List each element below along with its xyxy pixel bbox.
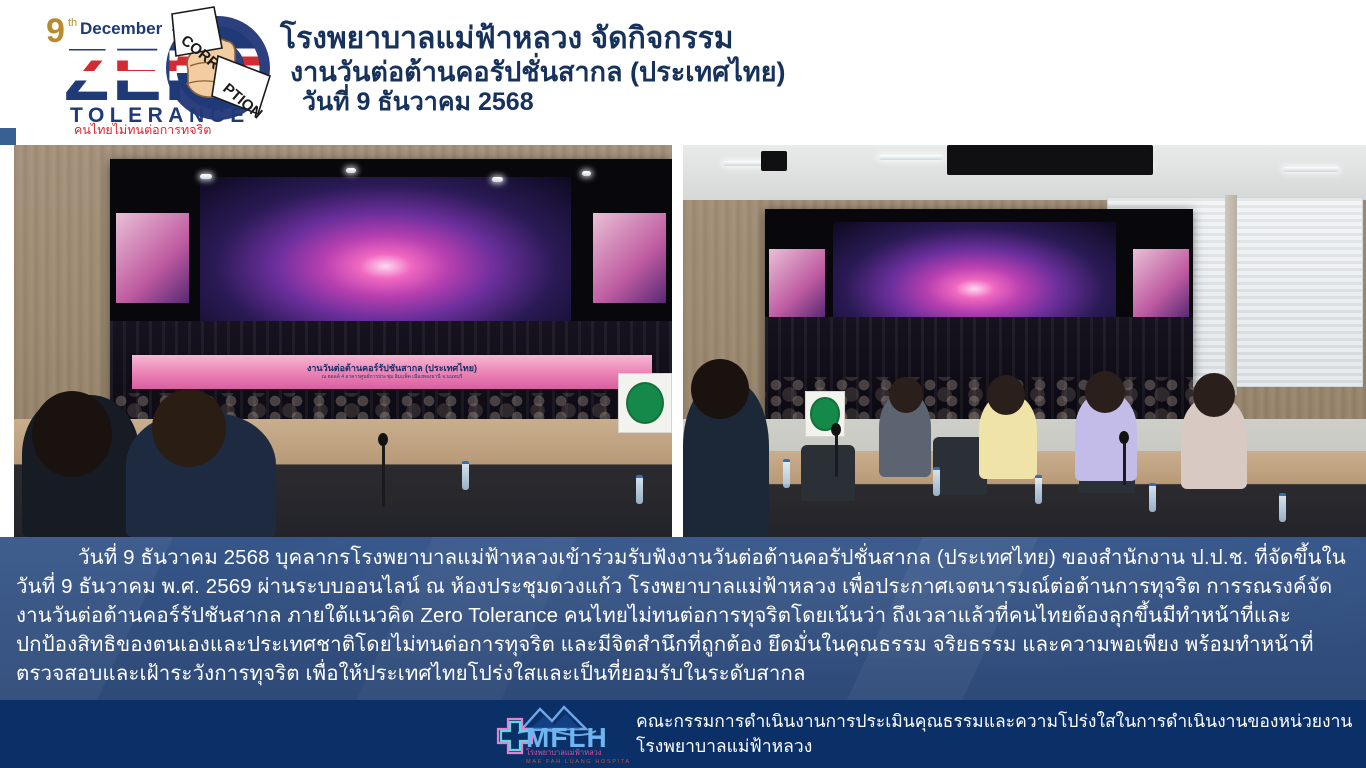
poster-root: 9 th December (0, 0, 1366, 768)
svg-text:MAE FAH LUANG HOSPITAL: MAE FAH LUANG HOSPITAL (526, 759, 630, 765)
health-seal-sign (618, 373, 672, 433)
body-text-block: วันที่ 9 ธันวาคม 2568 บุคลากรโรงพยาบาลแม… (0, 537, 1366, 700)
photo-left-meeting-room: งานวันต่อต้านคอร์รัปชันสากล (ประเทศไทย) … (14, 145, 672, 537)
led-stage-graphic (200, 177, 571, 321)
stage-spot-1 (200, 174, 212, 179)
stage-spot-2 (346, 168, 356, 173)
water-bottle-r1 (783, 459, 790, 488)
stage-spot-4 (582, 171, 591, 176)
footer-text-block: คณะกรรมการดำเนินงานการประเมินคุณธรรมและค… (636, 709, 1352, 759)
right-scene (683, 145, 1366, 537)
led-banner-line1: งานวันต่อต้านคอร์รัปชันสากล (ประเทศไทย) (307, 364, 477, 373)
green-seal-icon (626, 382, 664, 424)
header-title-line2: งานวันต่อต้านคอรัปชั่นสากล (ประเทศไทย) (280, 59, 880, 86)
led-banner: งานวันต่อต้านคอร์รัปชันสากล (ประเทศไทย) … (132, 355, 652, 389)
water-bottle-r4 (1149, 483, 1156, 512)
window-blinds-2 (1235, 197, 1363, 387)
microphone-stem-1 (382, 445, 385, 507)
header-title-line3: วันที่ 9 ธันวาคม 2568 (280, 90, 880, 115)
ceiling-light-4 (1283, 167, 1339, 172)
attendee-foreground-head (691, 359, 749, 419)
svg-text:คนไทยไม่ทนต่อการทุจริต: คนไทยไม่ทนต่อการทุจริต (74, 123, 211, 134)
attendee-r4-head (1193, 373, 1235, 417)
water-bottle-1 (462, 461, 469, 490)
footer-bar: MFLH โรงพยาบาลแม่ฟ้าหลวง MAE FAH LUANG H… (0, 700, 1366, 768)
led-wing-left (116, 213, 189, 303)
header-title-block: โรงพยาบาลแม่ฟ้าหลวง จัดกิจกรรม งานวันต่อ… (280, 24, 880, 115)
attendee-r2-head (987, 375, 1025, 415)
window-pillar (1225, 195, 1237, 395)
ceiling-light-2 (879, 155, 943, 160)
photo-band: งานวันต่อต้านคอร์รัปชันสากล (ประเทศไทย) … (0, 145, 1366, 537)
microphone-stem-r1 (835, 433, 838, 477)
attendee-r1-head (889, 377, 923, 413)
zero-tolerance-logo: 9 th December (22, 4, 284, 134)
svg-text:โรงพยาบาลแม่ฟ้าหลวง: โรงพยาบาลแม่ฟ้าหลวง (526, 748, 602, 757)
water-bottle-r3 (1035, 475, 1042, 504)
microphone-stem-r2 (1123, 441, 1126, 485)
attendee-2-head (152, 389, 226, 467)
header: 9 th December (0, 0, 1366, 145)
speaker-box (761, 151, 787, 171)
water-bottle-2 (636, 475, 643, 504)
water-bottle-r5 (1279, 493, 1286, 522)
led-wing-right (593, 213, 666, 303)
footer-line2: โรงพยาบาลแม่ฟ้าหลวง (636, 734, 1352, 759)
svg-text:th: th (68, 17, 77, 29)
chair-1 (801, 445, 855, 501)
footer-line1: คณะกรรมการดำเนินงานการประเมินคุณธรรมและค… (636, 709, 1352, 734)
header-left-accent-strip (0, 128, 16, 145)
wall-monitor (947, 145, 1153, 175)
microphone-head-r2 (1119, 431, 1129, 444)
left-scene: งานวันต่อต้านคอร์รัปชันสากล (ประเทศไทย) … (14, 145, 672, 537)
mflh-hospital-logo: MFLH โรงพยาบาลแม่ฟ้าหลวง MAE FAH LUANG H… (482, 703, 630, 765)
microphone-head-r1 (831, 423, 841, 436)
header-title-line1: โรงพยาบาลแม่ฟ้าหลวง จัดกิจกรรม (280, 24, 880, 54)
microphone-head-1 (378, 433, 388, 446)
water-bottle-r2 (933, 467, 940, 496)
body-paragraph: วันที่ 9 ธันวาคม 2568 บุคลากรโรงพยาบาลแม… (0, 537, 1366, 688)
attendee-r3-head (1085, 371, 1125, 413)
led-banner-line2: ณ ฮอลล์ 4 อาคารศูนย์การประชุม อิมแพ็ค เม… (322, 375, 463, 380)
stage-spot-3 (492, 177, 503, 182)
attendee-1-head (32, 391, 112, 477)
photo-right-meeting-room (683, 145, 1366, 537)
led-wing-left-right (769, 249, 825, 316)
led-stage-graphic-right (833, 222, 1115, 330)
svg-text:9: 9 (46, 12, 65, 50)
led-wing-right-right (1133, 249, 1189, 316)
